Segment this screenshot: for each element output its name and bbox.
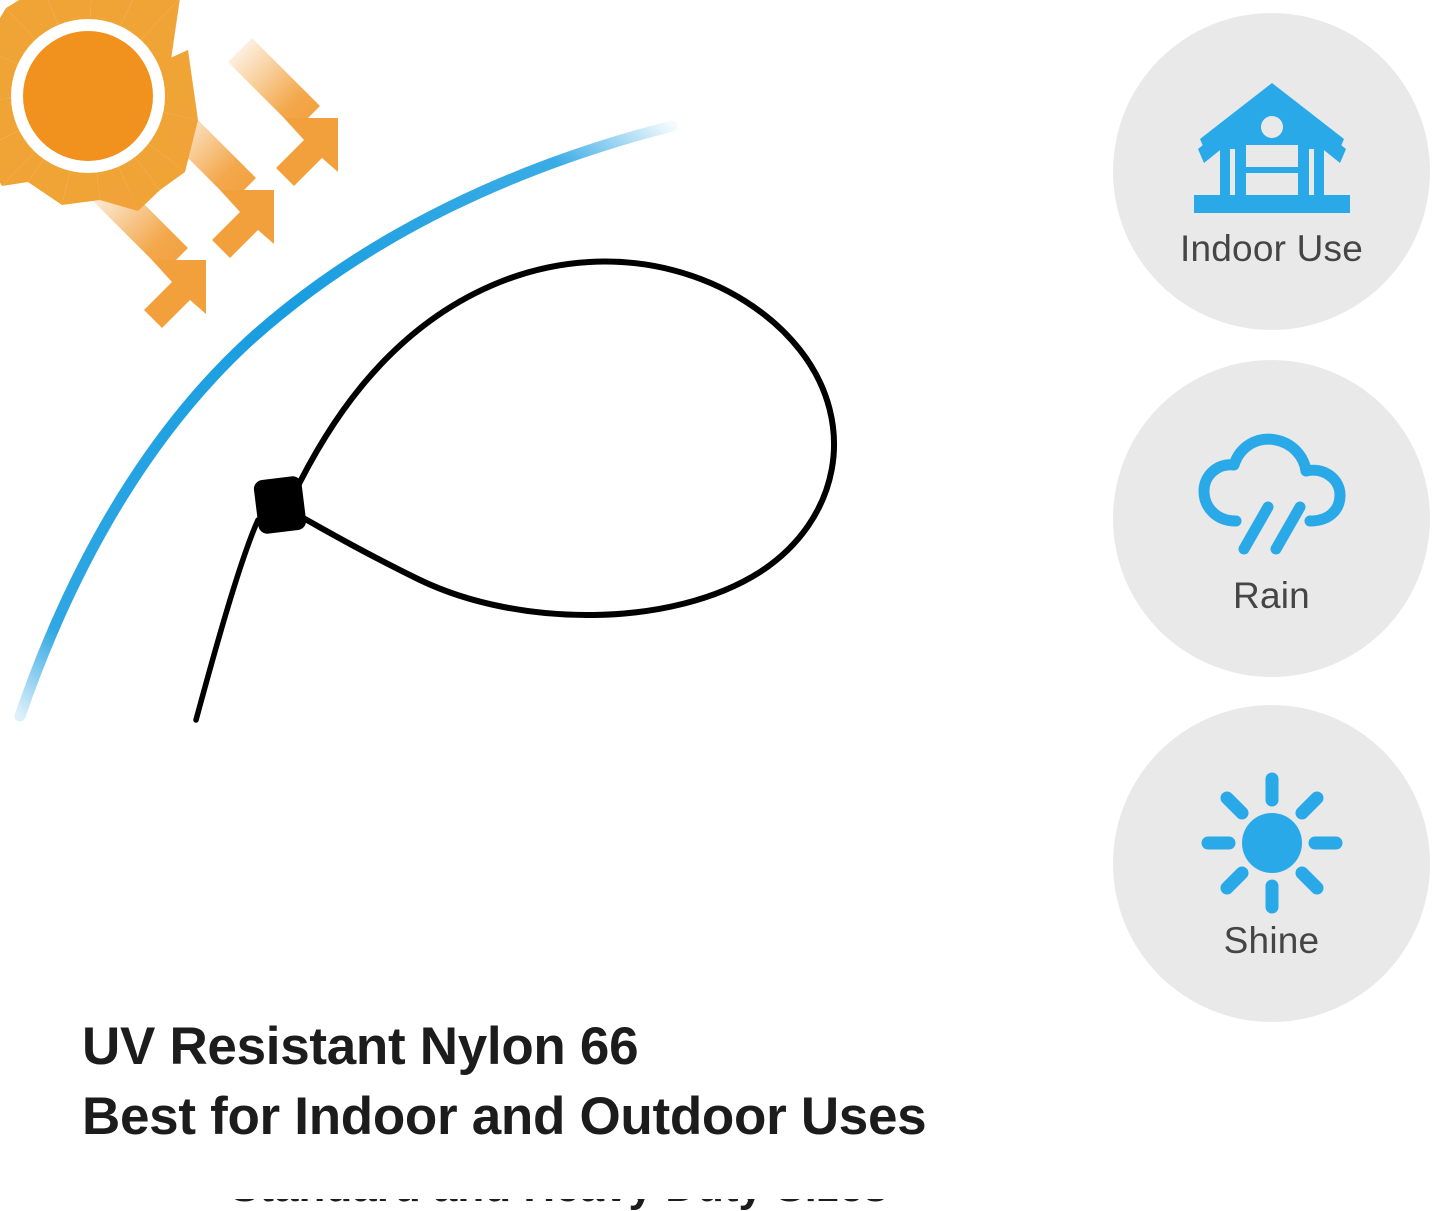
badge-label-rain: Rain [1233,577,1310,614]
cropped-subtext-label: Standard and Heavy Duty Sizes [230,1199,930,1209]
feature-badge-rain[interactable]: Rain [1113,360,1430,677]
cropped-subtext: Standard and Heavy Duty Sizes [230,1199,930,1211]
product-illustration [0,0,1090,1000]
sun-shine-icon [1192,768,1352,918]
headline-line-1: UV Resistant Nylon 66 [82,1012,1022,1082]
cable-tie-loop [196,262,834,720]
badge-label-shine: Shine [1224,922,1320,959]
headline-block: UV Resistant Nylon 66 Best for Indoor an… [82,1012,1022,1152]
feature-badge-indoor-use[interactable]: Indoor Use [1113,13,1430,330]
rain-cloud-icon [1192,423,1352,573]
headline-line-2: Best for Indoor and Outdoor Uses [82,1082,1022,1152]
badge-label-indoor-use: Indoor Use [1180,230,1363,267]
uv-ray-arrow [228,38,338,186]
feature-badge-shine[interactable]: Shine [1113,705,1430,1022]
sun-burst-icon [0,0,198,211]
uv-ray-arrow [160,106,274,258]
house-icon [1192,76,1352,226]
infographic-page: Indoor Use Rain [0,0,1432,1211]
feature-badge-column: Indoor Use Rain [1113,13,1430,1023]
